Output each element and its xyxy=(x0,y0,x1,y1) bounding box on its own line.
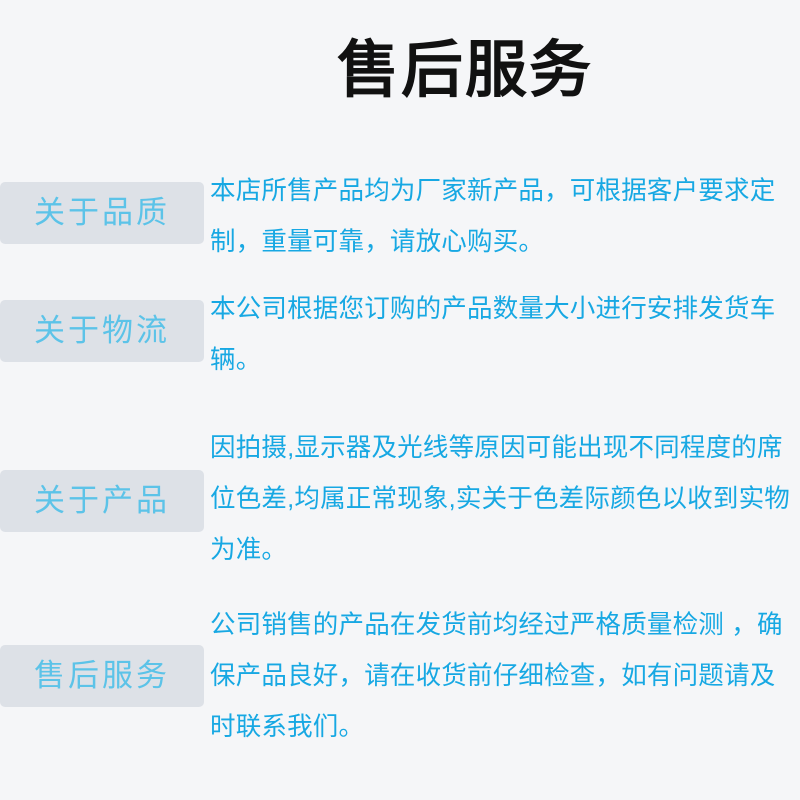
section-product: 关于产品 因拍摄,显示器及光线等原因可能出现不同程度的席位色差,均属正常现象,实… xyxy=(0,413,800,588)
section-product-label-box: 关于产品 xyxy=(0,470,204,532)
page-title: 售后服务 xyxy=(0,32,800,110)
after-sales-service-page: 售后服务 关于品质 本店所售产品均为厂家新产品，可根据客户要求定制，重量可靠，请… xyxy=(0,0,800,800)
section-service-text: 公司销售的产品在发货前均经过严格质量检测 ，确保产品良好，请在收货前仔细检查，如… xyxy=(210,600,796,753)
section-logistics-label-wrap: 关于物流 xyxy=(0,278,204,413)
section-quality-label: 关于品质 xyxy=(34,196,170,230)
section-logistics-text: 本公司根据您订购的产品数量大小进行安排发货车辆。 xyxy=(210,284,796,386)
section-logistics-body: 本公司根据您订购的产品数量大小进行安排发货车辆。 xyxy=(204,278,800,386)
section-product-label: 关于产品 xyxy=(34,484,170,518)
sections-list: 关于品质 本店所售产品均为厂家新产品，可根据客户要求定制，重量可靠，请放心购买。… xyxy=(0,160,800,738)
section-service-body: 公司销售的产品在发货前均经过严格质量检测 ，确保产品良好，请在收货前仔细检查，如… xyxy=(204,588,800,753)
section-quality-label-box: 关于品质 xyxy=(0,182,204,244)
section-quality-body: 本店所售产品均为厂家新产品，可根据客户要求定制，重量可靠，请放心购买。 xyxy=(204,160,800,268)
section-product-body: 因拍摄,显示器及光线等原因可能出现不同程度的席位色差,均属正常现象,实关于色差际… xyxy=(204,413,800,576)
section-quality: 关于品质 本店所售产品均为厂家新产品，可根据客户要求定制，重量可靠，请放心购买。 xyxy=(0,160,800,278)
section-logistics: 关于物流 本公司根据您订购的产品数量大小进行安排发货车辆。 xyxy=(0,278,800,413)
section-service-label-box: 售后服务 xyxy=(0,645,204,707)
section-quality-text: 本店所售产品均为厂家新产品，可根据客户要求定制，重量可靠，请放心购买。 xyxy=(210,166,796,268)
section-service-label-wrap: 售后服务 xyxy=(0,588,204,738)
section-product-text: 因拍摄,显示器及光线等原因可能出现不同程度的席位色差,均属正常现象,实关于色差际… xyxy=(210,423,796,576)
section-product-label-wrap: 关于产品 xyxy=(0,413,204,588)
section-service-label: 售后服务 xyxy=(34,659,170,693)
section-logistics-label: 关于物流 xyxy=(34,314,170,348)
section-logistics-label-box: 关于物流 xyxy=(0,300,204,362)
section-service: 售后服务 公司销售的产品在发货前均经过严格质量检测 ，确保产品良好，请在收货前仔… xyxy=(0,588,800,738)
section-quality-label-wrap: 关于品质 xyxy=(0,160,204,278)
